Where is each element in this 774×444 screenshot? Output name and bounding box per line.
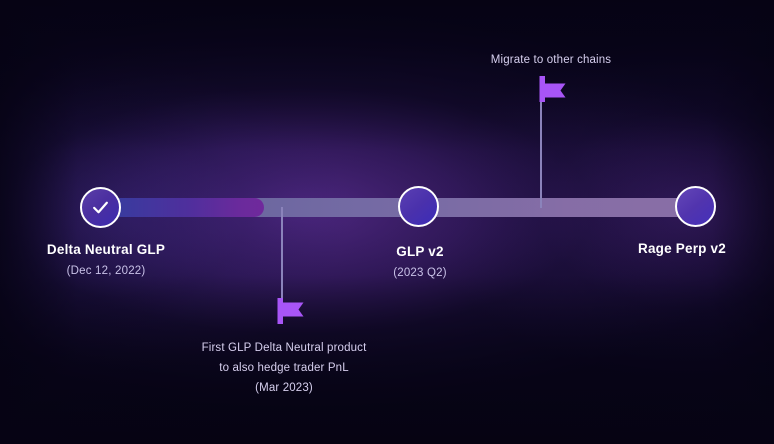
annotation-line: Migrate to other chains <box>448 50 654 70</box>
milestone-title: Delta Neutral GLP <box>0 242 212 258</box>
milestone-date: (Dec 12, 2022) <box>0 265 212 277</box>
milestone-title: Rage Perp v2 <box>600 241 764 257</box>
milestone-title: GLP v2 <box>318 244 522 260</box>
milestone-node-glp-v2[interactable] <box>398 186 439 227</box>
annotation-line: to also hedge trader PnL <box>180 358 388 378</box>
milestone-label-glp-v2: GLP v2 (2023 Q2) <box>318 244 522 279</box>
flag-icon-below <box>276 298 304 329</box>
annotation-connector-below <box>281 207 283 311</box>
annotation-line: (Mar 2023) <box>180 378 388 398</box>
annotation-line: First GLP Delta Neutral product <box>180 338 388 358</box>
annotation-first-glp-delta-neutral-product: First GLP Delta Neutral product to also … <box>180 338 388 398</box>
milestone-node-delta-neutral-glp[interactable] <box>80 187 121 228</box>
flag-icon-above <box>538 76 566 107</box>
milestone-label-rage-perp-v2: Rage Perp v2 <box>600 241 764 264</box>
roadmap-timeline: Delta Neutral GLP (Dec 12, 2022) GLP v2 … <box>0 0 774 444</box>
check-icon <box>91 198 110 217</box>
milestone-label-delta-neutral-glp: Delta Neutral GLP (Dec 12, 2022) <box>0 242 212 277</box>
milestone-date: (2023 Q2) <box>318 267 522 279</box>
annotation-migrate-to-other-chains: Migrate to other chains <box>448 50 654 70</box>
milestone-node-rage-perp-v2[interactable] <box>675 186 716 227</box>
